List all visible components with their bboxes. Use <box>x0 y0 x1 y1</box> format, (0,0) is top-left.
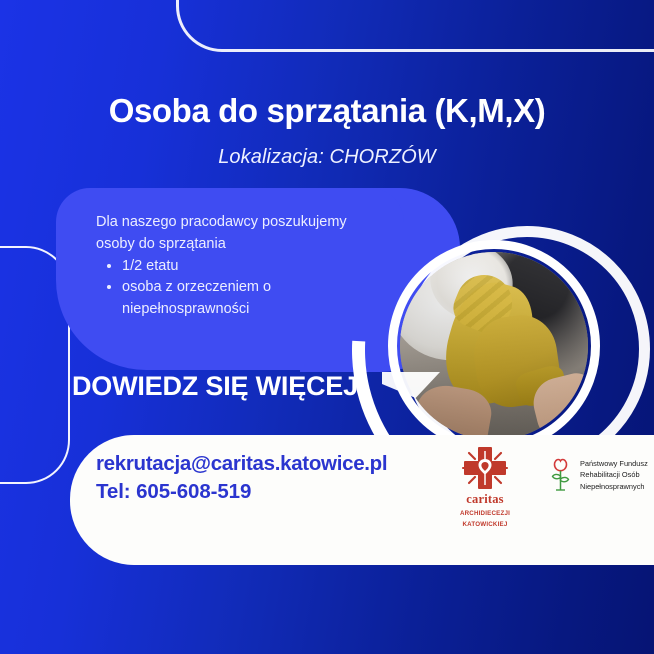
list-item: 1/2 etatu <box>122 256 396 278</box>
pfron-text: Państwowy Fundusz Rehabilitacji Osób Nie… <box>580 458 648 492</box>
top-decorative-line <box>176 0 654 52</box>
contact-phone[interactable]: Tel: 605-608-519 <box>96 480 387 504</box>
pfron-line-2: Rehabilitacji Osób <box>580 469 648 480</box>
contact-email[interactable]: rekrutacja@caritas.katowice.pl <box>96 452 387 476</box>
caritas-sub-line-1: ARCHIDIECEZJI <box>452 510 518 518</box>
caritas-sub-line-2: KATOWICKIEJ <box>452 521 518 529</box>
intro-line-1: Dla naszego pracodawcy poszukujemy <box>96 212 396 234</box>
pfron-line-1: Państwowy Fundusz <box>580 458 648 469</box>
contact-details: rekrutacja@caritas.katowice.pl Tel: 605-… <box>96 452 387 504</box>
caritas-logo: caritas ARCHIDIECEZJI KATOWICKIEJ <box>452 445 518 530</box>
job-posting-poster: Osoba do sprzątania (K,M,X) Lokalizacja:… <box>0 0 654 654</box>
photo-shading <box>400 252 588 440</box>
caritas-cross-icon <box>459 445 511 491</box>
pfron-logo: Państwowy Fundusz Rehabilitacji Osób Nie… <box>548 458 648 492</box>
requirements-list: 1/2 etatu osoba z orzeczeniem o niepełno… <box>96 256 396 321</box>
intro-line-2: osoby do sprzątania <box>96 234 396 256</box>
cta-text[interactable]: DOWIEDZ SIĘ WIĘCEJ! <box>72 371 367 402</box>
job-description: Dla naszego pracodawcy poszukujemy osoby… <box>96 212 396 321</box>
pfron-line-3: Niepełnosprawnych <box>580 481 648 492</box>
tulip-icon <box>548 458 574 492</box>
caritas-wordmark: caritas <box>452 492 518 507</box>
page-title: Osoba do sprzątania (K,M,X) <box>0 92 654 130</box>
list-item: osoba z orzeczeniem o niepełnosprawności <box>122 277 396 321</box>
cleaning-photo <box>400 252 588 440</box>
